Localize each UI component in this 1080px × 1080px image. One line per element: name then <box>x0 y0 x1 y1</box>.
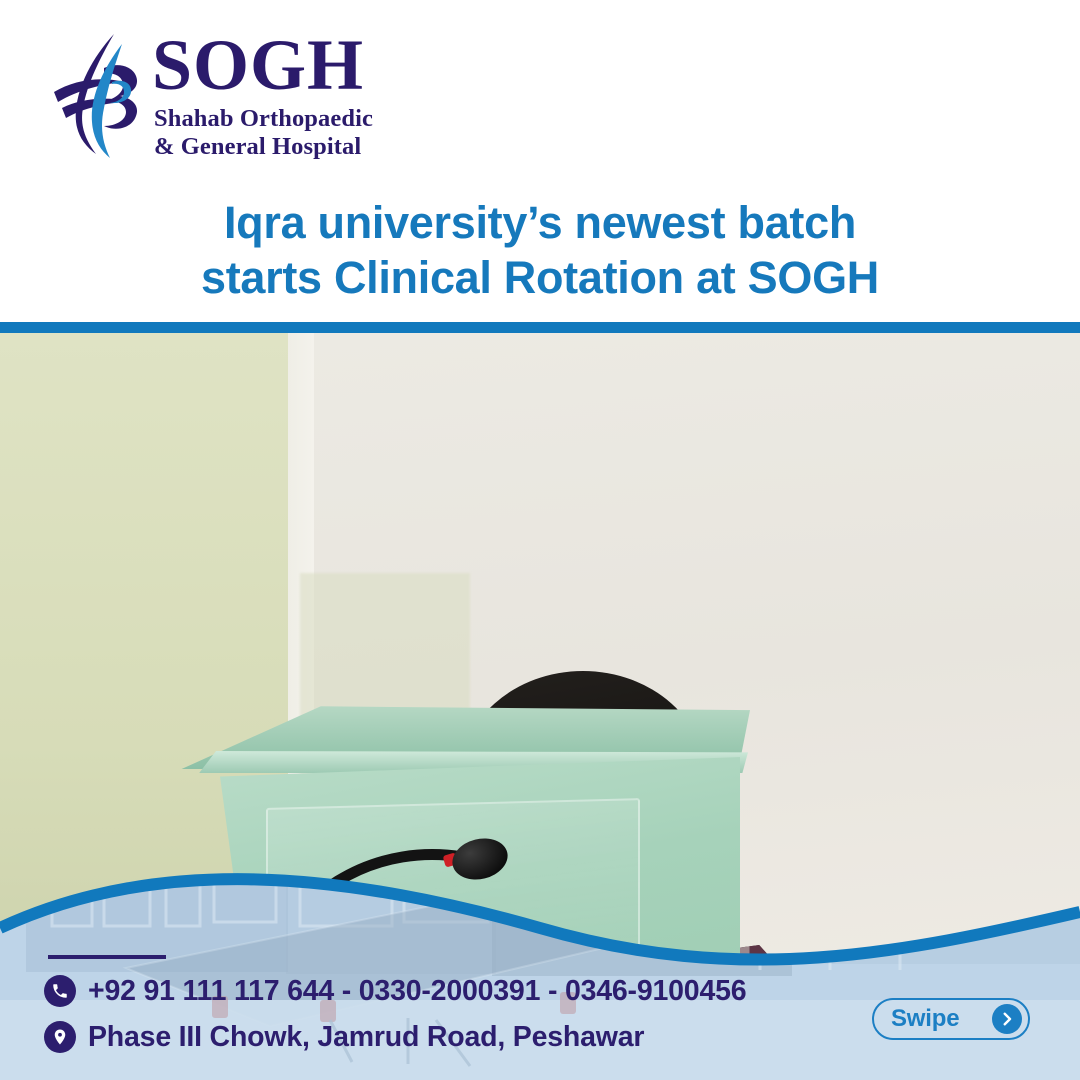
brand-logo-text: SOGH Shahab Orthopaedic & General Hospit… <box>152 34 402 160</box>
phone-numbers: +92 91 111 117 644 - 0330-2000391 - 0346… <box>88 975 746 1008</box>
social-post-card: SOGH Shahab Orthopaedic & General Hospit… <box>0 0 1080 1080</box>
address-text: Phase III Chowk, Jamrud Road, Peshawar <box>88 1021 644 1054</box>
location-pin-icon <box>44 1021 76 1053</box>
brand-logo[interactable]: SOGH Shahab Orthopaedic & General Hospit… <box>52 28 392 168</box>
contact-row-phone[interactable]: +92 91 111 117 644 - 0330-2000391 - 0346… <box>44 972 746 1010</box>
header-section: SOGH Shahab Orthopaedic & General Hospit… <box>0 0 1080 322</box>
phone-icon <box>44 975 76 1007</box>
footer-divider-rule <box>48 955 166 959</box>
headline-line-2: starts Clinical Rotation at SOGH <box>0 251 1080 306</box>
chevron-right-circle-icon[interactable] <box>992 1004 1022 1034</box>
page-title: Iqra university’s newest batch starts Cl… <box>0 196 1080 306</box>
swipe-label: Swipe <box>891 1005 959 1033</box>
headline-line-1: Iqra university’s newest batch <box>0 196 1080 251</box>
header-divider <box>0 322 1080 333</box>
brand-name: SOGH <box>152 34 402 97</box>
contact-info: +92 91 111 117 644 - 0330-2000391 - 0346… <box>44 972 746 1064</box>
contact-row-address[interactable]: Phase III Chowk, Jamrud Road, Peshawar <box>44 1018 746 1056</box>
sogh-swoosh-logo-icon <box>52 28 148 160</box>
swipe-button[interactable]: Swipe <box>872 998 1030 1040</box>
brand-tagline: Shahab Orthopaedic & General Hospital <box>154 105 402 160</box>
